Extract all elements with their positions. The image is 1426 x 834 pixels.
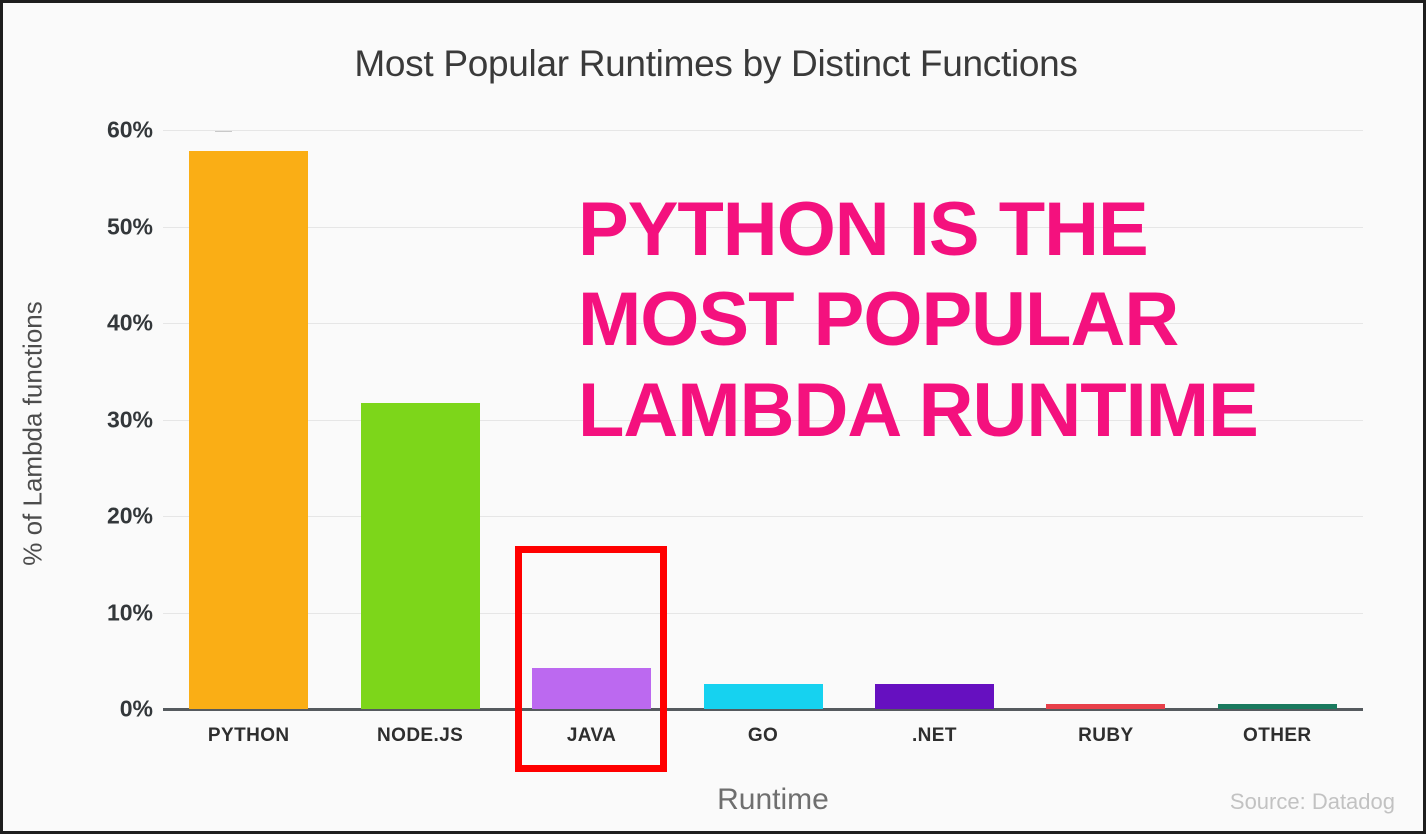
- callout-line-3: LAMBDA RUNTIME: [578, 374, 1308, 448]
- chart-slide: Most Popular Runtimes by Distinct Functi…: [0, 0, 1426, 834]
- x-axis-title: Runtime: [563, 783, 983, 817]
- y-tick-label: 50%: [71, 213, 153, 240]
- x-tick-label: NODE.JS: [334, 725, 505, 747]
- callout-line-1: PYTHON IS THE: [578, 193, 1308, 267]
- java-highlight-box: [515, 546, 667, 772]
- callout-text: PYTHON IS THEMOST POPULARLAMBDA RUNTIME: [578, 193, 1308, 464]
- chart-title: Most Popular Runtimes by Distinct Functi…: [3, 43, 1426, 85]
- y-tick-label: 0%: [71, 696, 153, 723]
- bar-ruby: [1046, 704, 1165, 709]
- y-tick-label: 10%: [71, 599, 153, 626]
- bar-python: [189, 151, 308, 709]
- y-tick-label: 40%: [71, 310, 153, 337]
- source-attribution: Source: Datadog: [1230, 789, 1395, 815]
- y-tick-label: 60%: [71, 117, 153, 144]
- x-tick-label: PYTHON: [163, 725, 334, 747]
- y-axis-ticks: 60%50%40%30%20%10%0%: [63, 3, 153, 834]
- y-tick-label: 30%: [71, 406, 153, 433]
- y-tick-label: 20%: [71, 503, 153, 530]
- bar-node-js: [361, 403, 480, 709]
- x-tick-label: OTHER: [1192, 725, 1363, 747]
- x-tick-label: .NET: [849, 725, 1020, 747]
- callout-line-2: MOST POPULAR: [578, 283, 1308, 357]
- y-axis-title: % of Lambda functions: [18, 269, 49, 599]
- bar-other: [1218, 704, 1337, 709]
- x-axis-ticks: PYTHONNODE.JSJAVAGO.NETRUBYOTHER: [163, 725, 1363, 759]
- x-tick-label: RUBY: [1020, 725, 1191, 747]
- bar-go: [704, 684, 823, 709]
- x-tick-label: GO: [677, 725, 848, 747]
- bar-net: [875, 684, 994, 709]
